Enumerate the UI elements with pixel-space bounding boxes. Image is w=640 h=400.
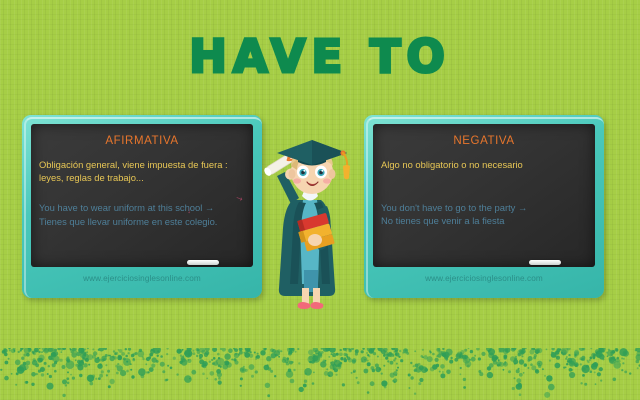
chalk-stick-icon bbox=[529, 260, 561, 265]
confetti-dot-band bbox=[0, 348, 640, 400]
board-url-negative: www.ejerciciosinglesonline.com bbox=[373, 274, 595, 283]
blackboard-surface-negative: NEGATIVA Algo no obligatorio o no necesa… bbox=[373, 124, 595, 267]
board-url-affirmative: www.ejerciciosinglesonline.com bbox=[31, 274, 253, 283]
page-title: HAVE TO bbox=[0, 34, 640, 79]
board-rule-affirmative: Obligación general, viene impuesta de fu… bbox=[39, 158, 245, 184]
graduate-student-icon bbox=[255, 120, 365, 320]
blackboard-affirmative: AFIRMATIVA Obligación general, viene imp… bbox=[22, 115, 262, 298]
board-example-es-affirmative: Tienes que llevar uniforme en este coleg… bbox=[39, 215, 245, 228]
board-heading-affirmative: AFIRMATIVA bbox=[39, 135, 245, 147]
board-rule-negative: Algo no obligatorio o no necesario bbox=[381, 158, 587, 171]
board-example-affirmative: You have to wear uniform at this school … bbox=[39, 201, 245, 227]
board-heading-negative: NEGATIVA bbox=[381, 135, 587, 147]
board-example-es-negative: No tienes que venir a la fiesta bbox=[381, 214, 587, 227]
board-example-en-affirmative: You have to wear uniform at this school … bbox=[39, 201, 245, 214]
board-example-en-negative: You don't have to go to the party → bbox=[381, 201, 587, 214]
poster-canvas: HAVE TO AFIRMATIVA Obligación general, v… bbox=[0, 0, 640, 400]
chalk-stick-icon bbox=[187, 260, 219, 265]
blackboard-surface-affirmative: AFIRMATIVA Obligación general, viene imp… bbox=[31, 124, 253, 267]
board-example-negative: You don't have to go to the party → No t… bbox=[381, 201, 587, 227]
blackboard-negative: NEGATIVA Algo no obligatorio o no necesa… bbox=[364, 115, 604, 298]
